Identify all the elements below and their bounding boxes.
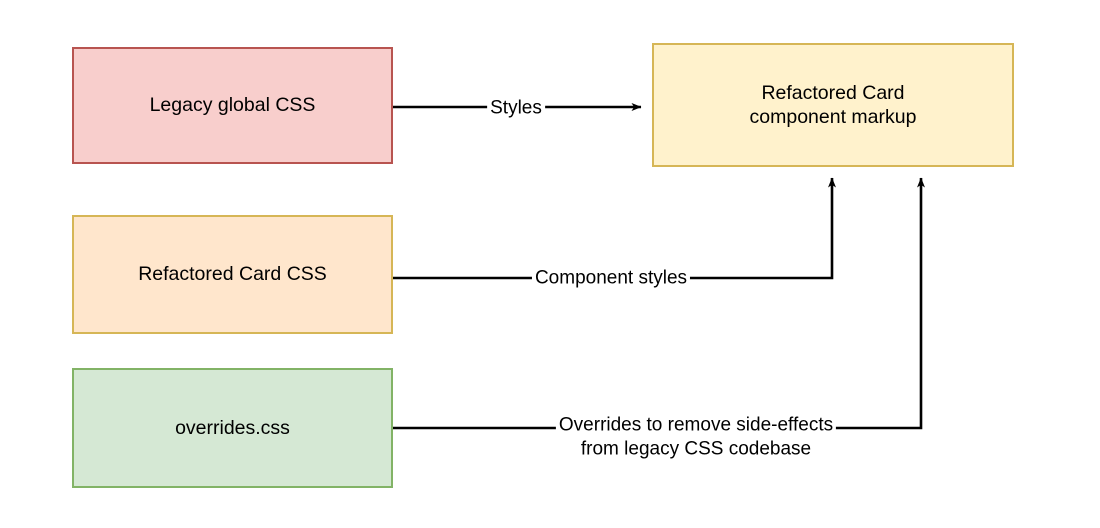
node-overrides-css-label: overrides.css <box>169 416 296 440</box>
edge-card-css-to-markup <box>393 178 832 278</box>
edge-overrides-to-markup <box>393 178 921 428</box>
node-refactored-card-css-label: Refactored Card CSS <box>132 262 333 286</box>
node-refactored-card-css[interactable]: Refactored Card CSS <box>72 215 393 334</box>
node-legacy-global-css-label: Legacy global CSS <box>144 93 322 117</box>
edge-label-styles: Styles <box>487 98 545 121</box>
edge-label-component-styles: Component styles <box>532 268 690 291</box>
node-refactored-card-component-markup-label: Refactored Card component markup <box>744 81 923 130</box>
node-overrides-css[interactable]: overrides.css <box>72 368 393 488</box>
node-legacy-global-css[interactable]: Legacy global CSS <box>72 47 393 164</box>
diagram-canvas: Legacy global CSS Refactored Card CSS ov… <box>0 0 1100 528</box>
node-refactored-card-component-markup[interactable]: Refactored Card component markup <box>652 43 1014 167</box>
edge-label-overrides-to-markup: Overrides to remove side-effects from le… <box>556 413 836 461</box>
